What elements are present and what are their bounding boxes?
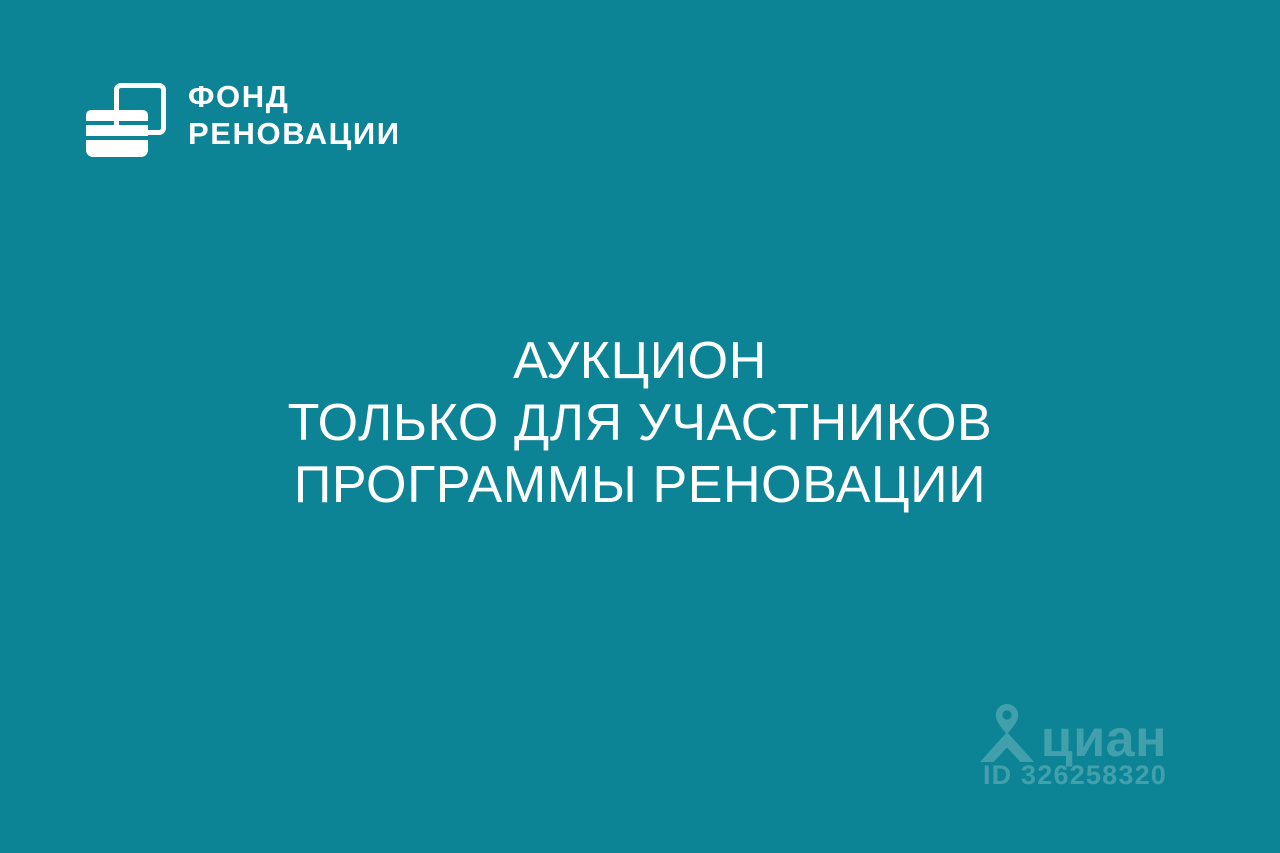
document-stack-bar-2 (86, 125, 148, 136)
brand-line-fond: ФОНД (188, 80, 401, 113)
listing-id-label: ID 326258320 (937, 760, 1167, 791)
document-stack-bar-3 (86, 140, 148, 157)
headline-line-2: ТОЛЬКО ДЛЯ УЧАСТНИКОВ (0, 392, 1280, 454)
stacked-documents-icon (84, 72, 168, 158)
document-stack-bar-1 (86, 110, 148, 121)
cian-wordmark: циан (1041, 716, 1167, 764)
headline-line-1: АУКЦИОН (0, 330, 1280, 392)
cian-watermark-row: циан (937, 702, 1167, 764)
brand-line-renovatsii: РЕНОВАЦИИ (188, 117, 401, 150)
fond-renovatsii-logo: ФОНД РЕНОВАЦИИ (84, 72, 401, 158)
cian-watermark: циан ID 326258320 (937, 702, 1167, 791)
cian-pin-house-icon (979, 702, 1035, 764)
auction-banner: ФОНД РЕНОВАЦИИ АУКЦИОН ТОЛЬКО ДЛЯ УЧАСТН… (0, 0, 1280, 853)
headline-block: АУКЦИОН ТОЛЬКО ДЛЯ УЧАСТНИКОВ ПРОГРАММЫ … (0, 330, 1280, 516)
headline-line-3: ПРОГРАММЫ РЕНОВАЦИИ (0, 454, 1280, 516)
brand-wordmark: ФОНД РЕНОВАЦИИ (188, 80, 401, 150)
